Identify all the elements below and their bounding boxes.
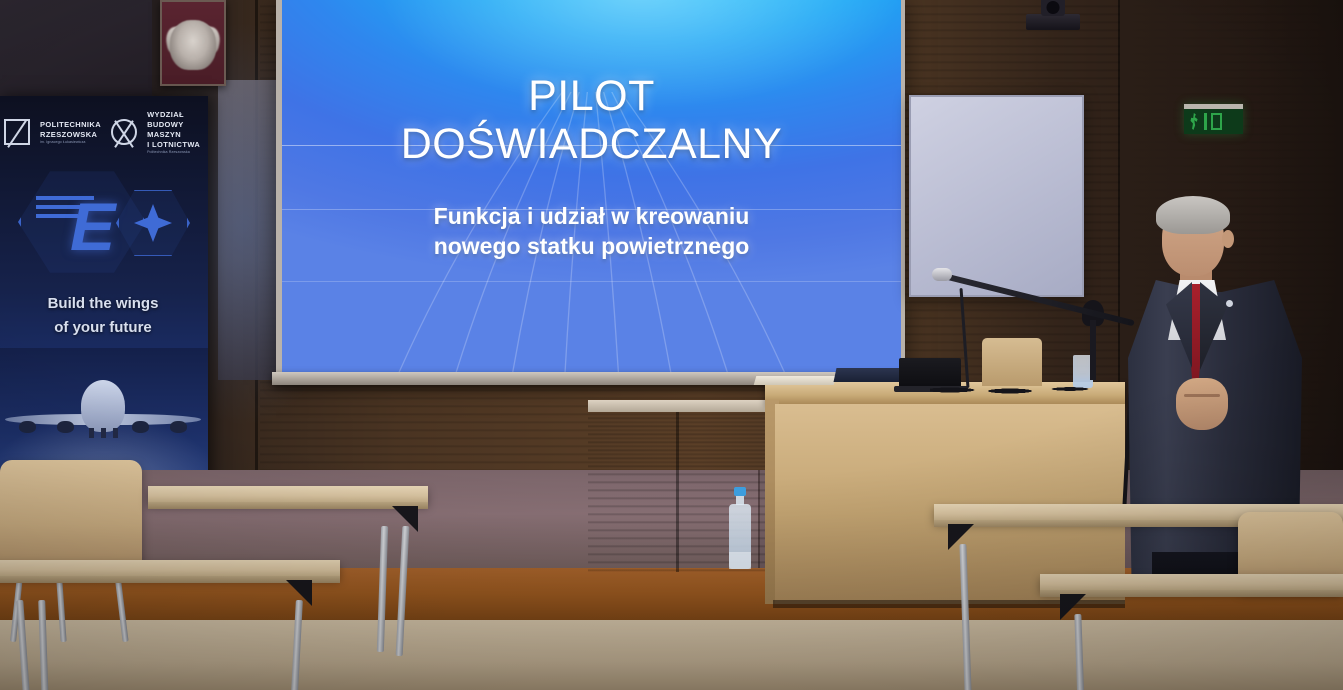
- speaker-cone: [1047, 1, 1060, 14]
- slide-title: PILOT DOŚWIADCZALNY: [282, 72, 901, 168]
- water-bottle[interactable]: [729, 487, 751, 569]
- banner-tagline: Build the wings of your future: [0, 292, 208, 340]
- faculty-logo-icon: [111, 119, 137, 145]
- paper-stack[interactable]: [754, 376, 837, 385]
- slide-subtitle: Funkcja i udział w kreowaniu nowego stat…: [282, 202, 901, 262]
- presentation-laptop[interactable]: [899, 358, 961, 388]
- chair-left-back[interactable]: [0, 460, 142, 568]
- bottle-label: [729, 552, 751, 569]
- airplane-gear-3: [113, 428, 118, 438]
- airplane-graphic: [5, 400, 201, 434]
- faculty-name: WYDZIAŁ BUDOWY MASZYN I LOTNICTWA Polite…: [147, 110, 202, 155]
- university-name-sub: im. Ignacego Łukasiewicza: [40, 140, 101, 144]
- banner-tagline-line-1: Build the wings: [0, 292, 208, 316]
- ceiling-speaker-icon: [1026, 14, 1080, 30]
- banner-tagline-line-2: of your future: [0, 316, 208, 340]
- airplane-gear-2: [101, 428, 106, 438]
- coat-of-arms-icon: [160, 0, 226, 86]
- presentation-slide[interactable]: PILOT DOŚWIADCZALNY Funkcja i udział w k…: [282, 0, 901, 372]
- airplane-engine-4: [170, 421, 187, 433]
- presenter-lapel-pin: [1226, 300, 1233, 307]
- emblem-letter: E: [70, 188, 115, 266]
- bottle-cap: [734, 487, 746, 496]
- side-cabinet-divider: [676, 412, 679, 572]
- presenter-ear: [1222, 230, 1234, 248]
- side-cabinet-top: [588, 400, 770, 412]
- chair-back-panel: [0, 460, 142, 568]
- airplane-fuselage: [81, 380, 125, 432]
- exit-arrow-icon: [1204, 113, 1207, 130]
- faculty-name-line-3: I LOTNICTWA: [147, 140, 202, 150]
- banner-logos: POLITECHNIKA RZESZOWSKA im. Ignacego Łuk…: [4, 110, 202, 154]
- wall-panel-grey-left: [0, 0, 152, 100]
- airplane-engine-2: [57, 421, 74, 433]
- slide-title-line-2: DOŚWIADCZALNY: [282, 120, 901, 168]
- hall-floor: [0, 620, 1343, 690]
- globe-latitude-3: [282, 281, 901, 282]
- bottle-body: [729, 504, 751, 569]
- eagle-body: [170, 20, 216, 70]
- university-name-line-1: POLITECHNIKA: [40, 120, 101, 130]
- faculty-name-line-2: BUDOWY MASZYN: [147, 120, 202, 140]
- exit-door-icon: [1211, 113, 1222, 130]
- logo-slash: [7, 120, 27, 148]
- whiteboard: [909, 95, 1084, 297]
- microphone-icon[interactable]: [932, 268, 952, 281]
- airplane-engine-3: [132, 421, 149, 433]
- desk-edge: [148, 502, 428, 509]
- microphone-pole: [1090, 320, 1096, 380]
- university-name: POLITECHNIKA RZESZOWSKA im. Ignacego Łuk…: [40, 120, 101, 145]
- university-name-line-2: RZESZOWSKA: [40, 130, 101, 140]
- university-logo-icon: [4, 119, 30, 145]
- chair-behind-lectern: [982, 338, 1042, 386]
- presenter-hands: [1176, 378, 1228, 430]
- presenter-hair: [1156, 196, 1230, 234]
- banner-emblem: E: [12, 162, 194, 284]
- airplane-gear-1: [89, 428, 94, 438]
- exit-sign: [1184, 104, 1243, 134]
- lecture-hall-scene: PILOT DOŚWIADCZALNY Funkcja i udział w k…: [0, 0, 1343, 690]
- wall-panel-grey-mid: [218, 80, 280, 380]
- desk-edge: [1040, 590, 1343, 597]
- rollup-banner: POLITECHNIKA RZESZOWSKA im. Ignacego Łuk…: [0, 96, 208, 500]
- desk-cables: [930, 385, 1110, 395]
- airplane-engine-1: [19, 421, 36, 433]
- running-man-icon: [1189, 113, 1200, 130]
- slide-title-line-1: PILOT: [282, 72, 901, 120]
- faculty-name-line-1: WYDZIAŁ: [147, 110, 202, 120]
- faculty-name-sub: Politechnika Rzeszowska: [147, 150, 202, 154]
- slide-subtitle-line-2: nowego statku powietrznego: [282, 232, 901, 262]
- slide-subtitle-line-1: Funkcja i udział w kreowaniu: [282, 202, 901, 232]
